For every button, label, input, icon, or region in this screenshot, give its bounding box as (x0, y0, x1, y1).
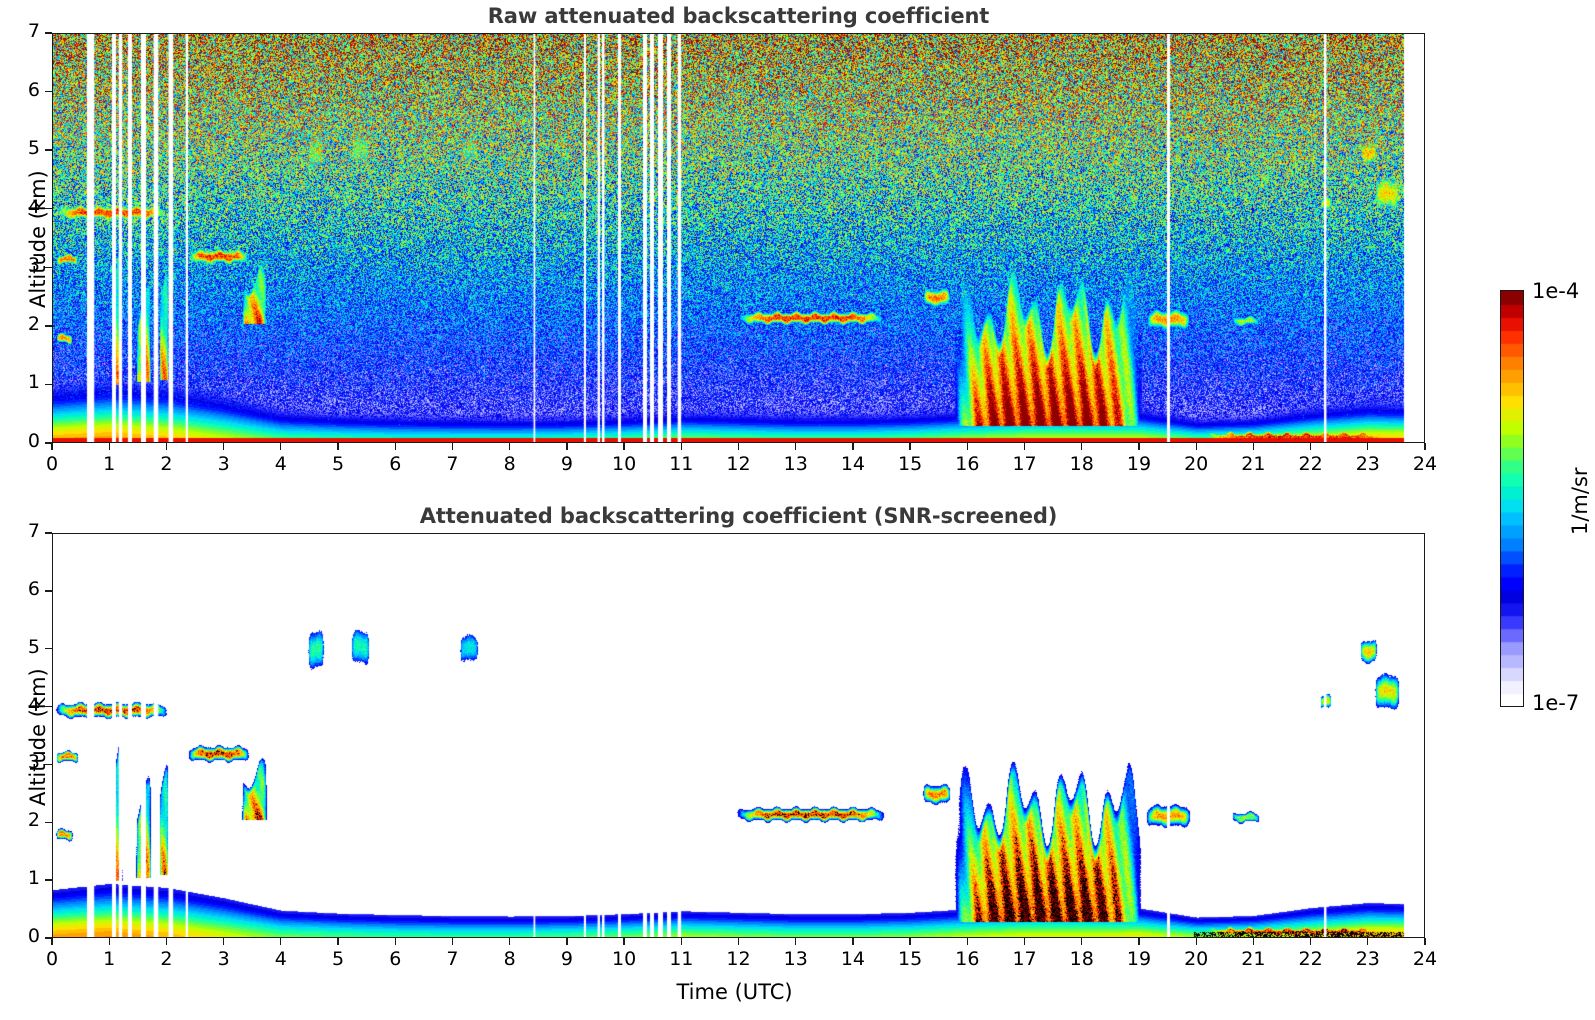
x-tick-label: 22 (1281, 453, 1341, 475)
x-tick-label: 17 (995, 948, 1055, 970)
x-tick-label: 12 (709, 948, 769, 970)
x-tick (51, 443, 52, 450)
x-tick-label: 21 (1223, 948, 1283, 970)
y-tick (45, 149, 52, 150)
y-tick-label: 6 (0, 578, 40, 600)
colorbar-min-label: 1e-7 (1532, 691, 1579, 715)
y-tick-label: 7 (0, 20, 40, 42)
heatmap-canvas-screened (53, 534, 1425, 938)
y-tick-label: 0 (0, 925, 40, 947)
x-tick (681, 938, 682, 945)
y-tick (45, 532, 52, 533)
x-tick (1424, 938, 1425, 945)
colorbar-gradient (1501, 291, 1523, 706)
colorbar (1500, 290, 1524, 707)
y-tick (45, 879, 52, 880)
x-tick-label: 15 (880, 453, 940, 475)
x-tick-label: 17 (995, 453, 1055, 475)
y-tick (45, 325, 52, 326)
x-tick (1196, 443, 1197, 450)
y-tick-label: 2 (0, 313, 40, 335)
x-tick-label: 1 (79, 453, 139, 475)
x-tick-label: 16 (937, 948, 997, 970)
x-tick-label: 9 (537, 453, 597, 475)
x-axis-label: Time (UTC) (677, 980, 793, 1004)
x-tick (223, 938, 224, 945)
y-tick (45, 648, 52, 649)
x-tick-label: 9 (537, 948, 597, 970)
x-tick-label: 6 (365, 453, 425, 475)
x-tick-label: 8 (480, 453, 540, 475)
x-tick (1367, 938, 1368, 945)
x-tick (1024, 938, 1025, 945)
x-tick (280, 443, 281, 450)
x-tick-label: 14 (823, 948, 883, 970)
x-tick (109, 443, 110, 450)
x-tick-label: 11 (651, 948, 711, 970)
y-tick-label: 2 (0, 809, 40, 831)
x-tick-label: 4 (251, 948, 311, 970)
x-tick (337, 443, 338, 450)
x-tick (395, 938, 396, 945)
x-tick (1138, 938, 1139, 945)
x-tick-label: 16 (937, 453, 997, 475)
x-tick-label: 0 (22, 453, 82, 475)
x-tick (1310, 443, 1311, 450)
x-tick-label: 5 (308, 453, 368, 475)
x-tick-label: 3 (194, 948, 254, 970)
x-tick-label: 12 (709, 453, 769, 475)
x-tick-label: 7 (422, 453, 482, 475)
x-tick-label: 3 (194, 453, 254, 475)
x-tick-label: 11 (651, 453, 711, 475)
x-tick (852, 938, 853, 945)
x-tick (1367, 443, 1368, 450)
x-tick-label: 6 (365, 948, 425, 970)
x-tick (166, 443, 167, 450)
y-axis-label-screened: Altitude (km) (26, 668, 50, 806)
plot-area-screened (52, 533, 1425, 938)
x-tick (1253, 938, 1254, 945)
x-tick (223, 443, 224, 450)
x-tick (280, 938, 281, 945)
panel-title-raw: Raw attenuated backscattering coefficien… (52, 4, 1425, 28)
x-tick-label: 5 (308, 948, 368, 970)
x-tick-label: 13 (766, 453, 826, 475)
x-tick (1081, 443, 1082, 450)
y-tick-label: 0 (0, 430, 40, 452)
x-tick-label: 2 (136, 948, 196, 970)
x-tick-label: 0 (22, 948, 82, 970)
x-tick-label: 8 (480, 948, 540, 970)
x-tick (795, 443, 796, 450)
x-tick-label: 15 (880, 948, 940, 970)
x-tick (509, 938, 510, 945)
x-tick-label: 1 (79, 948, 139, 970)
x-tick (1024, 443, 1025, 450)
x-tick (681, 443, 682, 450)
x-tick (566, 938, 567, 945)
x-tick (623, 938, 624, 945)
x-tick (852, 443, 853, 450)
x-tick-label: 7 (422, 948, 482, 970)
y-tick (45, 442, 52, 443)
x-tick (566, 443, 567, 450)
x-tick-label: 2 (136, 453, 196, 475)
x-tick (395, 443, 396, 450)
x-tick (1138, 443, 1139, 450)
y-tick-label: 6 (0, 79, 40, 101)
y-tick-label: 7 (0, 520, 40, 542)
x-tick-label: 23 (1338, 948, 1398, 970)
y-tick-label: 1 (0, 867, 40, 889)
y-tick-label: 1 (0, 371, 40, 393)
x-tick (1310, 938, 1311, 945)
y-tick (45, 822, 52, 823)
x-tick-label: 24 (1395, 453, 1455, 475)
x-tick (1253, 443, 1254, 450)
plot-area-raw (52, 33, 1425, 443)
y-axis-label-raw: Altitude (km) (26, 170, 50, 308)
x-tick-label: 22 (1281, 948, 1341, 970)
x-tick (909, 938, 910, 945)
colorbar-unit-label: 1/m/sr (1568, 467, 1592, 535)
y-tick-label: 5 (0, 636, 40, 658)
x-tick-label: 19 (1109, 453, 1169, 475)
x-tick (452, 443, 453, 450)
y-tick (45, 384, 52, 385)
y-tick (45, 32, 52, 33)
x-tick (337, 938, 338, 945)
colorbar-max-label: 1e-4 (1532, 279, 1579, 303)
x-tick (1424, 443, 1425, 450)
x-tick-label: 21 (1223, 453, 1283, 475)
x-tick-label: 18 (1052, 453, 1112, 475)
x-tick (1196, 938, 1197, 945)
x-tick (795, 938, 796, 945)
x-tick (738, 938, 739, 945)
x-tick (623, 443, 624, 450)
x-tick-label: 10 (594, 453, 654, 475)
x-tick (1081, 938, 1082, 945)
x-tick-label: 18 (1052, 948, 1112, 970)
y-tick (45, 91, 52, 92)
x-tick (452, 938, 453, 945)
x-tick-label: 14 (823, 453, 883, 475)
y-tick (45, 590, 52, 591)
heatmap-canvas-raw (53, 34, 1425, 443)
x-tick-label: 10 (594, 948, 654, 970)
x-tick-label: 23 (1338, 453, 1398, 475)
y-tick (45, 937, 52, 938)
x-tick-label: 19 (1109, 948, 1169, 970)
x-tick (166, 938, 167, 945)
x-tick-label: 20 (1166, 453, 1226, 475)
x-tick (738, 443, 739, 450)
y-tick-label: 5 (0, 137, 40, 159)
x-tick (967, 443, 968, 450)
x-tick-label: 13 (766, 948, 826, 970)
panel-title-screened: Attenuated backscattering coefficient (S… (52, 504, 1425, 528)
x-tick (51, 938, 52, 945)
x-tick (109, 938, 110, 945)
x-tick (509, 443, 510, 450)
x-tick (909, 443, 910, 450)
x-tick-label: 4 (251, 453, 311, 475)
x-tick (967, 938, 968, 945)
x-tick-label: 20 (1166, 948, 1226, 970)
x-tick-label: 24 (1395, 948, 1455, 970)
